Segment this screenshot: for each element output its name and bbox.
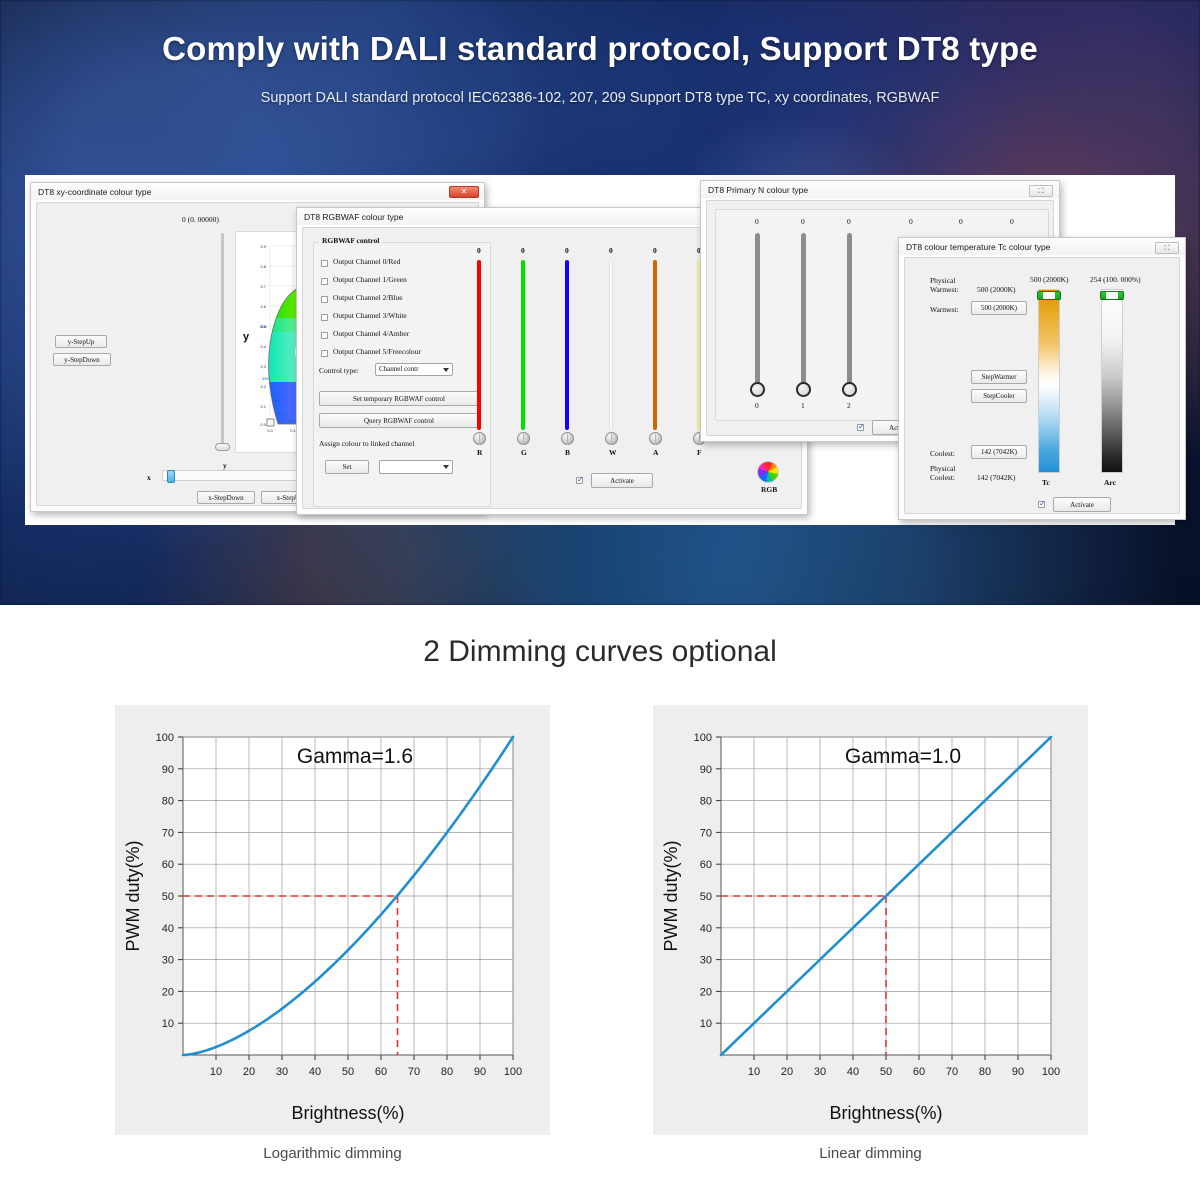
close-icon[interactable]: ✕ <box>449 186 479 198</box>
channel-3-label: Output Channel 3/White <box>333 311 407 320</box>
assign-colour-select[interactable] <box>379 460 453 474</box>
y-step-down-button[interactable]: y-StepDown <box>53 353 111 366</box>
tc-gradient-bar[interactable] <box>1038 289 1060 473</box>
control-type-select[interactable]: Channel contr <box>375 363 453 376</box>
query-rgbwaf-button[interactable]: Query RGBWAF control <box>319 413 479 428</box>
slider-label-F: F <box>697 448 702 457</box>
primary-slider-track-0[interactable] <box>755 233 760 388</box>
svg-text:60: 60 <box>375 1066 387 1078</box>
svg-text:10: 10 <box>210 1066 222 1078</box>
svg-text:60: 60 <box>700 859 712 871</box>
slider-knob-R[interactable] <box>473 432 486 445</box>
svg-text:80: 80 <box>979 1066 991 1078</box>
svg-text:Gamma=1.0: Gamma=1.0 <box>845 745 961 768</box>
screenshots-band: DT8 xy-coordinate colour type ✕ 0 (0. 00… <box>25 175 1175 525</box>
svg-text:10: 10 <box>748 1066 760 1078</box>
svg-text:10: 10 <box>162 1018 174 1030</box>
control-type-value: Channel contr <box>379 365 418 373</box>
svg-text:30: 30 <box>276 1066 288 1078</box>
y-slider-thumb[interactable] <box>215 443 230 451</box>
primary-slider-knob-0[interactable] <box>750 382 765 397</box>
svg-text:30: 30 <box>814 1066 826 1078</box>
assign-set-button[interactable]: Set <box>325 460 369 474</box>
chevron-down-icon <box>443 465 449 469</box>
svg-text:100: 100 <box>156 732 174 744</box>
slider-knob-A[interactable] <box>649 432 662 445</box>
primary-activate-checkbox[interactable] <box>857 424 864 431</box>
y-slider-label: y <box>223 461 227 470</box>
chart-card-linear: 102030405060708090100 102030405060708090… <box>653 705 1088 1135</box>
physical-coolest-value: 142 (7042K) <box>977 473 1016 482</box>
svg-text:70: 70 <box>946 1066 958 1078</box>
svg-text:30: 30 <box>162 955 174 967</box>
slider-label-G: G <box>521 448 527 457</box>
window-title-primary: DT8 Primary N colour type <box>701 181 1059 198</box>
chevron-down-icon <box>443 368 449 372</box>
x-slider-label: x <box>147 473 151 482</box>
svg-text:90: 90 <box>1012 1066 1024 1078</box>
svg-text:490: 490 <box>262 376 269 381</box>
svg-text:470: 470 <box>280 412 287 417</box>
svg-text:90: 90 <box>474 1066 486 1078</box>
page-title: Comply with DALI standard protocol, Supp… <box>0 30 1200 68</box>
svg-text:30: 30 <box>700 955 712 967</box>
maximize-icon[interactable]: ⛶ <box>1155 242 1179 254</box>
svg-text:0.9: 0.9 <box>260 244 266 249</box>
channel-5-checkbox[interactable] <box>321 350 328 357</box>
control-type-label: Control type: <box>319 366 359 375</box>
physical-warmest-label: Physical Warmest: <box>930 276 959 294</box>
primary-value-2: 0 <box>847 217 851 226</box>
window-body-tc: Physical Warmest: 500 (2000K) Warmest: 5… <box>904 257 1180 514</box>
channel-5-label: Output Channel 5/Freecolour <box>333 347 421 356</box>
y-slider-track[interactable] <box>221 233 224 448</box>
coolest-value-field[interactable]: 142 (7042K) <box>971 445 1027 459</box>
dimming-curves-section: 2 Dimming curves optional 10203040506070… <box>0 605 1200 1200</box>
section-title: 2 Dimming curves optional <box>0 635 1200 669</box>
channel-3-checkbox[interactable] <box>321 314 328 321</box>
tc-top-value: 500 (2000K) <box>1030 275 1069 284</box>
svg-text:70: 70 <box>700 827 712 839</box>
svg-text:0.3: 0.3 <box>260 364 266 369</box>
tc-bar-handle[interactable] <box>1037 291 1061 300</box>
channel-4-checkbox[interactable] <box>321 332 328 339</box>
slider-label-W: W <box>609 448 617 457</box>
arc-bar-label: Arc <box>1104 478 1116 487</box>
hero-banner: Comply with DALI standard protocol, Supp… <box>0 0 1200 605</box>
slider-knob-W[interactable] <box>605 432 618 445</box>
svg-text:Gamma=1.6: Gamma=1.6 <box>297 745 413 768</box>
svg-text:Brightness(%): Brightness(%) <box>291 1103 404 1123</box>
svg-text:0.0: 0.0 <box>267 428 273 433</box>
maximize-icon[interactable]: ⛶ <box>1029 185 1053 197</box>
svg-text:90: 90 <box>162 764 174 776</box>
x-step-down-button[interactable]: x-StepDown <box>197 491 255 504</box>
svg-text:460: 460 <box>288 418 295 423</box>
svg-text:40: 40 <box>162 923 174 935</box>
window-dt8-colour-temperature[interactable]: DT8 colour temperature Tc colour type ⛶ … <box>898 237 1186 520</box>
coolest-label: Coolest: <box>930 449 955 458</box>
slider-value-B: 0 <box>565 246 569 255</box>
slider-value-R: 0 <box>477 246 481 255</box>
svg-text:60: 60 <box>913 1066 925 1078</box>
chart-svg-linear: 102030405060708090100 102030405060708090… <box>653 705 1088 1135</box>
primary-slider-label-0: 0 <box>755 401 759 410</box>
slider-label-A: A <box>653 448 658 457</box>
channel-2-checkbox[interactable] <box>321 296 328 303</box>
primary-slider-label-1: 1 <box>801 401 805 410</box>
svg-text:40: 40 <box>847 1066 859 1078</box>
y-value-readout: 0 (0. 00000) <box>182 215 219 224</box>
window-title-xy: DT8 xy-coordinate colour type <box>31 183 484 200</box>
svg-text:0.2: 0.2 <box>260 384 266 389</box>
channel-1-checkbox[interactable] <box>321 278 328 285</box>
slider-bar-A[interactable] <box>653 260 657 430</box>
svg-text:PWM duty(%): PWM duty(%) <box>123 840 143 951</box>
arc-top-value: 254 (100. 000%) <box>1090 275 1141 284</box>
slider-knob-G[interactable] <box>517 432 530 445</box>
channel-2-label: Output Channel 2/Blue <box>333 293 403 302</box>
primary-slider-track-2[interactable] <box>847 233 852 388</box>
slider-bar-W[interactable] <box>609 260 613 430</box>
slider-knob-B[interactable] <box>561 432 574 445</box>
svg-text:80: 80 <box>700 796 712 808</box>
y-step-up-button[interactable]: y-StepUp <box>55 335 107 348</box>
physical-warmest-value: 500 (2000K) <box>977 285 1016 294</box>
svg-text:0.0: 0.0 <box>260 422 266 427</box>
svg-text:0.1: 0.1 <box>260 404 266 409</box>
svg-text:90: 90 <box>700 764 712 776</box>
primary-slider-knob-1[interactable] <box>796 382 811 397</box>
svg-text:50: 50 <box>162 891 174 903</box>
warmest-value-field[interactable]: 500 (2000K) <box>971 301 1027 315</box>
window-title-tc: DT8 colour temperature Tc colour type <box>899 238 1185 255</box>
svg-text:0.6: 0.6 <box>260 304 266 309</box>
primary-slider-knob-2[interactable] <box>842 382 857 397</box>
svg-text:0.5: 0.5 <box>260 324 266 329</box>
svg-text:10: 10 <box>700 1018 712 1030</box>
primary-value-0: 0 <box>755 217 759 226</box>
slider-bar-B[interactable] <box>565 260 569 430</box>
svg-text:60: 60 <box>162 859 174 871</box>
slider-bar-R[interactable] <box>477 260 481 430</box>
svg-text:20: 20 <box>700 986 712 998</box>
arc-gradient-bar[interactable] <box>1101 289 1123 473</box>
svg-text:0.7: 0.7 <box>260 284 266 289</box>
assign-colour-label: Assign colour to linked channel <box>319 439 414 448</box>
slider-value-G: 0 <box>521 246 525 255</box>
arc-bar-handle[interactable] <box>1100 291 1124 300</box>
svg-text:50: 50 <box>700 891 712 903</box>
svg-text:PWM duty(%): PWM duty(%) <box>661 840 681 951</box>
svg-text:50: 50 <box>880 1066 892 1078</box>
rgbwaf-activate-button[interactable]: Activate <box>591 473 653 488</box>
channel-0-checkbox[interactable] <box>321 260 328 267</box>
primary-value-4: 0 <box>959 217 963 226</box>
svg-text:80: 80 <box>441 1066 453 1078</box>
step-warmer-button[interactable]: StepWarmer <box>971 370 1027 384</box>
primary-value-3: 0 <box>909 217 913 226</box>
svg-text:80: 80 <box>162 796 174 808</box>
svg-text:100: 100 <box>1042 1066 1060 1078</box>
rgbwaf-activate-checkbox[interactable] <box>576 477 583 484</box>
tc-activate-button[interactable]: Activate <box>1053 497 1111 512</box>
x-slider-thumb[interactable] <box>167 470 175 483</box>
svg-text:100: 100 <box>694 732 712 744</box>
primary-value-1: 0 <box>801 217 805 226</box>
slider-bar-G[interactable] <box>521 260 525 430</box>
rgbwaf-group-label: RGBWAF control <box>319 236 382 245</box>
slider-label-B: B <box>565 448 570 457</box>
svg-text:50: 50 <box>342 1066 354 1078</box>
svg-text:Brightness(%): Brightness(%) <box>829 1103 942 1123</box>
chart-svg-logarithmic: 102030405060708090100 102030405060708090… <box>115 705 550 1135</box>
svg-text:70: 70 <box>162 827 174 839</box>
slider-value-A: 0 <box>653 246 657 255</box>
page-subtitle: Support DALI standard protocol IEC62386-… <box>0 90 1200 106</box>
channel-4-label: Output Channel 4/Amber <box>333 329 409 338</box>
slider-value-W: 0 <box>609 246 613 255</box>
tc-bar-label: Tc <box>1042 478 1050 487</box>
svg-text:480: 480 <box>272 398 279 403</box>
set-temporary-rgbwaf-button[interactable]: Set temporary RGBWAF control <box>319 391 479 406</box>
svg-text:100: 100 <box>504 1066 522 1078</box>
chart-caption-linear: Linear dimming <box>653 1145 1088 1162</box>
svg-text:20: 20 <box>162 986 174 998</box>
svg-text:40: 40 <box>309 1066 321 1078</box>
svg-text:20: 20 <box>243 1066 255 1078</box>
svg-text:0.8: 0.8 <box>260 264 266 269</box>
svg-text:y: y <box>243 331 250 343</box>
rgb-wheel-label: RGB <box>761 485 777 494</box>
svg-text:0.4: 0.4 <box>260 344 266 349</box>
primary-slider-label-2: 2 <box>847 401 851 410</box>
chart-caption-logarithmic: Logarithmic dimming <box>115 1145 550 1162</box>
primary-value-5: 0 <box>1010 217 1014 226</box>
warmest-label: Warmest: <box>930 305 959 314</box>
primary-slider-track-1[interactable] <box>801 233 806 388</box>
rgb-colour-wheel-icon[interactable] <box>757 461 779 483</box>
svg-text:20: 20 <box>781 1066 793 1078</box>
step-cooler-button[interactable]: StepCooler <box>971 389 1027 403</box>
slider-label-R: R <box>477 448 482 457</box>
svg-text:70: 70 <box>408 1066 420 1078</box>
physical-coolest-label: Physical Coolest: <box>930 464 955 482</box>
svg-text:40: 40 <box>700 923 712 935</box>
tc-activate-checkbox[interactable] <box>1038 501 1045 508</box>
chart-card-logarithmic: 102030405060708090100 102030405060708090… <box>115 705 550 1135</box>
channel-1-label: Output Channel 1/Green <box>333 275 407 284</box>
channel-0-label: Output Channel 0/Red <box>333 257 401 266</box>
